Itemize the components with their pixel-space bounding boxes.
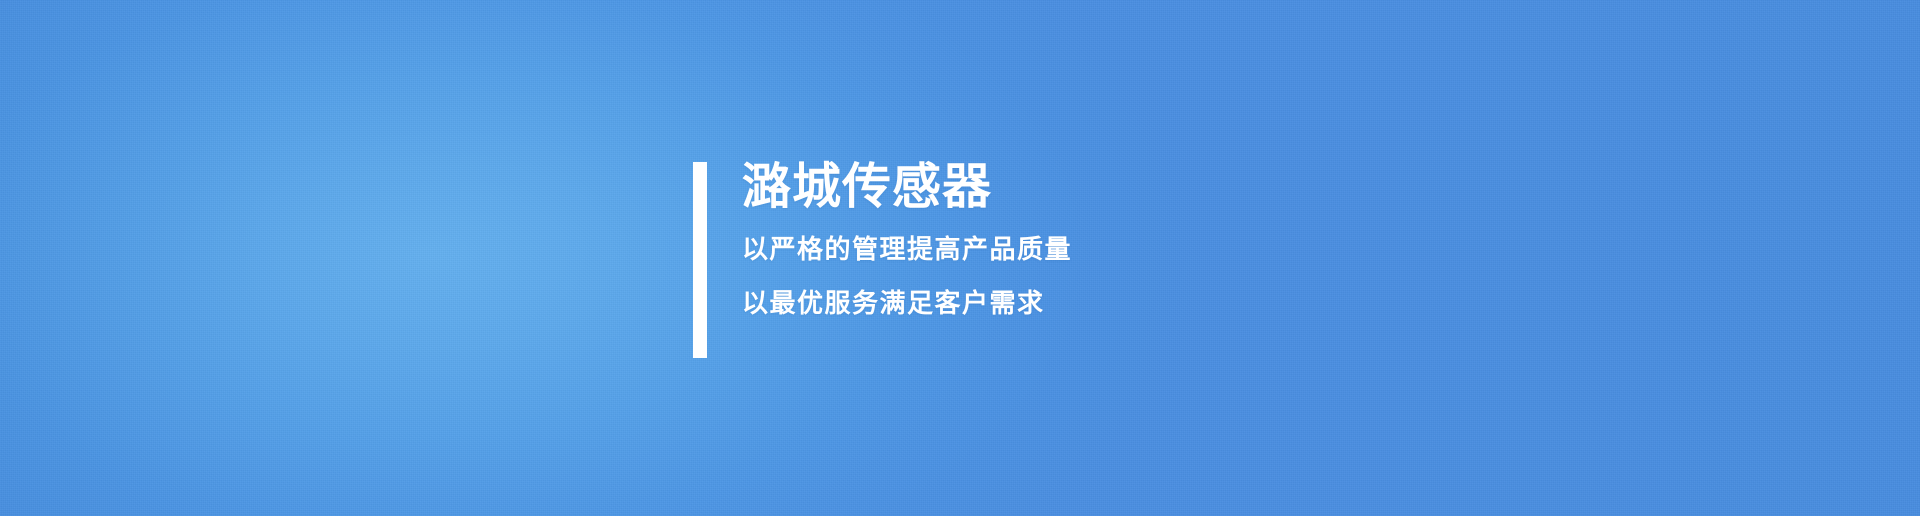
hero-content: 潞城传感器 以严格的管理提高产品质量 以最优服务满足客户需求 — [693, 162, 1072, 358]
hero-banner: 潞城传感器 以严格的管理提高产品质量 以最优服务满足客户需求 — [0, 0, 1920, 516]
page-title: 潞城传感器 — [742, 162, 1072, 211]
tagline-line-1: 以严格的管理提高产品质量 — [742, 237, 1072, 263]
tagline-line-2: 以最优服务满足客户需求 — [742, 291, 1072, 317]
accent-bar — [693, 162, 707, 358]
hero-text-column: 潞城传感器 以严格的管理提高产品质量 以最优服务满足客户需求 — [742, 162, 1072, 358]
